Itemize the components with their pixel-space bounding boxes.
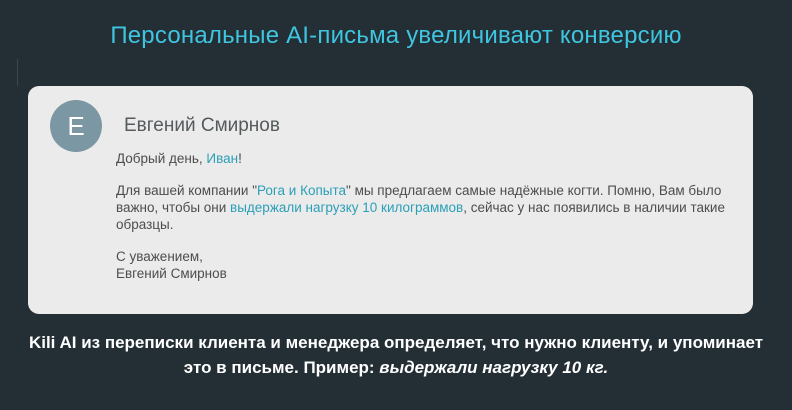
sender-name: Евгений Смирнов <box>124 115 280 137</box>
avatar: Е <box>50 100 102 152</box>
caption-example-italic: выдержали нагрузку 10 кг. <box>379 358 608 377</box>
greeting-text-before: Добрый день, <box>116 151 206 166</box>
greeting-text-after: ! <box>238 151 242 166</box>
paragraph-part-1: Для вашей компании " <box>116 183 257 198</box>
email-greeting: Добрый день, Иван! <box>116 150 729 167</box>
email-preview-card: Е Евгений Смирнов Добрый день, Иван! Для… <box>28 86 753 314</box>
left-accent-tick <box>17 59 18 86</box>
email-signoff: С уважением,Евгений Смирнов <box>116 248 729 282</box>
email-header: Е Евгений Смирнов <box>50 100 280 152</box>
email-main-paragraph: Для вашей компании "Рога и Копыта" мы пр… <box>116 182 729 233</box>
caption: Kili AI из переписки клиента и менеджера… <box>0 330 792 380</box>
greeting-highlight-name: Иван <box>206 151 238 166</box>
paragraph-highlight-company: Рога и Копыта <box>257 183 346 198</box>
signoff-line-2: Евгений Смирнов <box>116 266 227 281</box>
page-title: Персональные AI-письма увеличивают конве… <box>0 22 792 50</box>
paragraph-highlight-requirement: выдержали нагрузку 10 килограммов <box>230 200 463 215</box>
email-body: Добрый день, Иван! Для вашей компании "Р… <box>116 150 729 282</box>
signoff-line-1: С уважением, <box>116 249 203 264</box>
